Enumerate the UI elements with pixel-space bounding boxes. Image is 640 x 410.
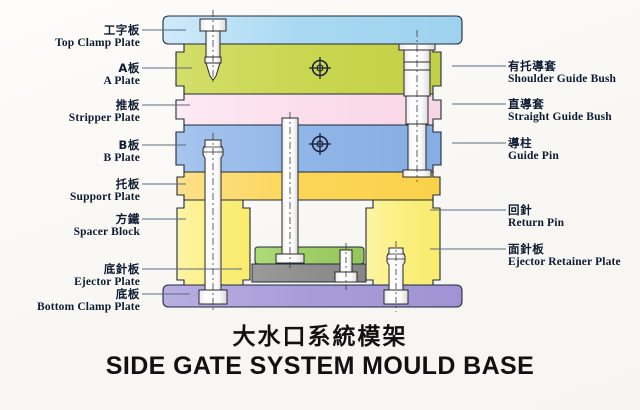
callout-label-chinese: 導柱 <box>508 137 559 149</box>
callout-spacer-block: 方鐵Spacer Block <box>74 213 140 238</box>
callout-label-chinese: A板 <box>104 62 141 74</box>
callout-label-chinese: 工字板 <box>55 24 140 36</box>
callout-label-english: Ejector Retainer Plate <box>508 256 621 268</box>
callout-bottom-clamp-plate: 底板Bottom Clamp Plate <box>37 288 140 313</box>
title-chinese: 大水口系統模架 <box>0 317 640 351</box>
callout-label-english: Guide Pin <box>508 150 559 162</box>
callout-label-english: Shoulder Guide Bush <box>508 73 616 85</box>
title-english-wrapper: SIDE GATE SYSTEM MOULD BASE <box>0 349 640 381</box>
callout-label-english: Bottom Clamp Plate <box>37 301 140 313</box>
callout-label-chinese: 底針板 <box>74 263 140 275</box>
callout-top-clamp-plate: 工字板Top Clamp Plate <box>55 24 140 49</box>
callout-label-english: Return Pin <box>508 217 564 229</box>
callout-stripper-plate: 推板Stripper Plate <box>69 99 140 124</box>
callout-label-chinese: B板 <box>104 139 141 151</box>
callout-ejector-plate: 底針板Ejector Plate <box>74 263 140 288</box>
callout-return-pin: 回針Return Pin <box>508 204 564 229</box>
callout-shoulder-guide-bush: 有托導套Shoulder Guide Bush <box>508 60 616 85</box>
diagram-canvas: 工字板Top Clamp PlateA板A Plate推板Stripper Pl… <box>0 0 640 410</box>
callout-straight-guide-bush: 直導套Straight Guide Bush <box>508 98 612 123</box>
callout-label-chinese: 方鐵 <box>74 213 140 225</box>
callout-label-chinese: 托板 <box>70 178 140 190</box>
callout-label-chinese: 推板 <box>69 99 140 111</box>
callout-ejector-retainer-plate: 面針板Ejector Retainer Plate <box>508 243 621 268</box>
callout-label-chinese: 底板 <box>37 288 140 300</box>
plate-stripper-plate <box>176 94 441 125</box>
callout-label-chinese: 直導套 <box>508 98 612 110</box>
callout-support-plate: 托板Support Plate <box>70 178 140 203</box>
callout-label-english: Straight Guide Bush <box>508 111 612 123</box>
callout-guide-pin: 導柱Guide Pin <box>508 137 559 162</box>
callout-label-english: Top Clamp Plate <box>55 37 140 49</box>
title-chinese-wrapper: 大水口系統模架 <box>0 317 640 351</box>
callout-label-english: Stripper Plate <box>69 112 140 124</box>
title-english: SIDE GATE SYSTEM MOULD BASE <box>0 352 640 381</box>
callout-label-chinese: 回針 <box>508 204 564 216</box>
callout-label-english: A Plate <box>104 75 141 87</box>
callout-a-plate: A板A Plate <box>104 62 141 87</box>
callout-label-english: Spacer Block <box>74 226 140 238</box>
callout-label-english: Support Plate <box>70 191 140 203</box>
callout-b-plate: B板B Plate <box>104 139 141 164</box>
callout-label-chinese: 有托導套 <box>508 60 616 72</box>
callout-label-chinese: 面針板 <box>508 243 621 255</box>
callout-label-english: B Plate <box>104 152 141 164</box>
